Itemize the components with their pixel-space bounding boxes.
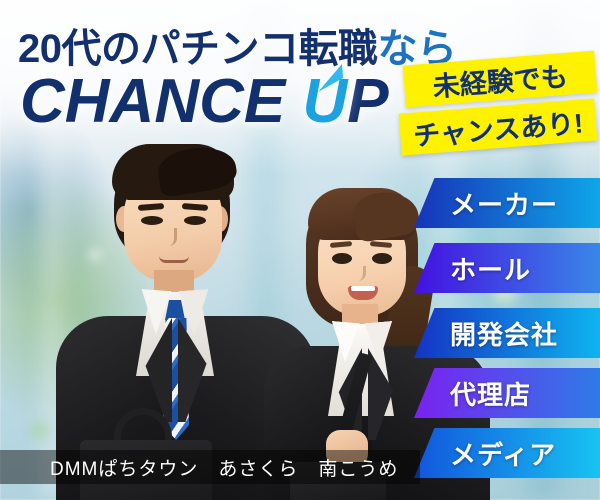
category-button-maker[interactable]: メーカー (414, 178, 600, 228)
category-label-developer: 開発会社 (450, 315, 558, 352)
credit-strip: DMMぱちタウン あさくら 南こうめ (0, 450, 420, 484)
category-button-developer[interactable]: 開発会社 (414, 308, 600, 358)
category-label-hall: ホール (450, 250, 531, 287)
category-label-maker: メーカー (450, 185, 558, 222)
credit-text: DMMぱちタウン あさくら 南こうめ (50, 454, 398, 481)
category-label-media: メディア (450, 435, 556, 472)
recruitment-banner-ad[interactable]: 20代のパチンコ転職なら CHANCE UP 未経験でも チャンスあり! メーカ… (0, 0, 600, 500)
category-button-agency[interactable]: 代理店 (414, 368, 600, 418)
category-button-media[interactable]: メディア (414, 428, 600, 478)
category-button-list: メーカー ホール 開発会社 代理店 メディア (0, 0, 600, 500)
category-button-hall[interactable]: ホール (414, 243, 600, 293)
category-label-agency: 代理店 (450, 375, 531, 412)
